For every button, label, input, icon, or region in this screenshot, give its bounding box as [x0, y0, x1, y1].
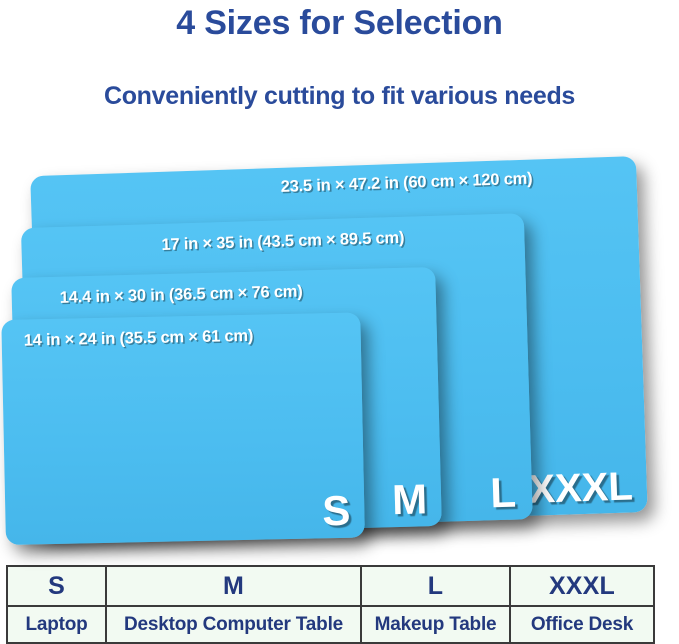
- mat-size-letter-l: L: [490, 472, 517, 515]
- table-row-uses: Laptop Desktop Computer Table Makeup Tab…: [7, 606, 654, 643]
- mat-dimensions-s: 14 in × 24 in (35.5 cm × 61 cm): [24, 327, 254, 351]
- mat-stack: 23.5 in × 47.2 in (60 cm × 120 cm) XXXL …: [0, 0, 679, 560]
- mat-size-letter-xxxl: XXXL: [528, 466, 634, 509]
- mat-size-letter-m: M: [392, 478, 428, 521]
- table-cell-use-s: Laptop: [7, 606, 106, 643]
- table-row-sizes: S M L XXXL: [7, 566, 654, 606]
- table-cell-use-l: Makeup Table: [361, 606, 510, 643]
- product-size-infographic: 4 Sizes for Selection Conveniently cutti…: [0, 0, 679, 644]
- table-cell-size-l: L: [361, 566, 510, 606]
- mat-s: 14 in × 24 in (35.5 cm × 61 cm) S: [1, 313, 365, 545]
- table-cell-size-xxxl: XXXL: [510, 566, 654, 606]
- mat-dimensions-l: 17 in × 35 in (43.5 cm × 89.5 cm): [161, 229, 404, 255]
- table-cell-size-m: M: [106, 566, 361, 606]
- table-cell-use-xxxl: Office Desk: [510, 606, 654, 643]
- table-cell-size-s: S: [7, 566, 106, 606]
- mat-dimensions-xxxl: 23.5 in × 47.2 in (60 cm × 120 cm): [280, 170, 532, 197]
- table-cell-use-m: Desktop Computer Table: [106, 606, 361, 643]
- mat-size-letter-s: S: [322, 490, 351, 533]
- mat-dimensions-m: 14.4 in × 30 in (36.5 cm × 76 cm): [60, 282, 303, 307]
- size-usage-table: S M L XXXL Laptop Desktop Computer Table…: [6, 565, 655, 644]
